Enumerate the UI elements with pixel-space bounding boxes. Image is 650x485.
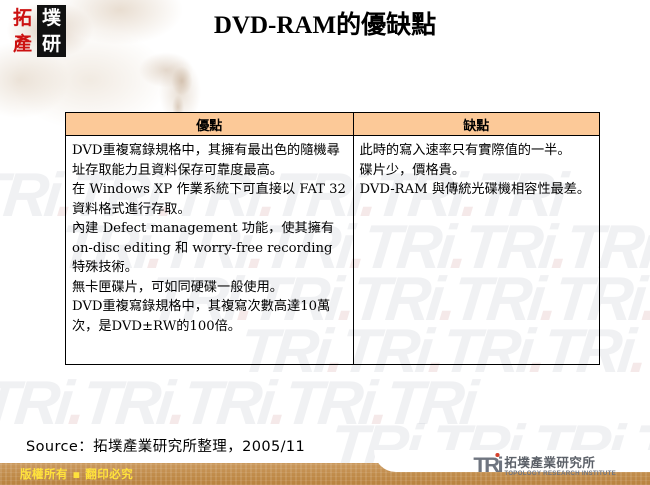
slide-canvas: TRi.TRi.TRi.TRi.TRi.TRi TRi.TRi.TRi.TRi.… — [0, 0, 650, 485]
comparison-table: 優點 缺點 DVD重複寫錄規格中，其擁有最出色的隨機尋址存取能力且資料保存可靠度… — [65, 112, 600, 365]
tri-logo-wordmark: 拓墣產業研究所 TOPOLOGY RESEARCH INSTITUTE — [504, 455, 616, 478]
cell-paragraph: DVD重複寫錄規格中，其擁有最出色的隨機尋址存取能力且資料保存可靠度最高。 — [72, 141, 347, 180]
table-cell-advantages: DVD重複寫錄規格中，其擁有最出色的隨機尋址存取能力且資料保存可靠度最高。在 W… — [66, 136, 354, 365]
advantages-text: DVD重複寫錄規格中，其擁有最出色的隨機尋址存取能力且資料保存可靠度最高。在 W… — [66, 136, 353, 342]
tri-logo-chinese-name: 拓墣產業研究所 — [504, 456, 616, 469]
tri-logo-english-name: TOPOLOGY RESEARCH INSTITUTE — [504, 470, 616, 478]
table-cell-disadvantages: 此時的寫入速率只有實際值的一半。碟片少，價格貴。DVD-RAM 與傳統光碟機相容… — [353, 136, 599, 365]
cell-paragraph: 此時的寫入速率只有實際值的一半。 — [360, 141, 593, 161]
tri-corporate-logo: TRi 拓墣產業研究所 TOPOLOGY RESEARCH INSTITUTE — [474, 455, 616, 481]
cell-paragraph: 內建 Defect management 功能，使其擁有 on-disc edi… — [72, 219, 347, 278]
table-row: DVD重複寫錄規格中，其擁有最出色的隨機尋址存取能力且資料保存可靠度最高。在 W… — [66, 136, 600, 365]
page-title: DVD-RAM的優缺點 — [0, 5, 650, 41]
source-line: Source：拓墣產業研究所整理，2005/11 — [26, 435, 305, 456]
tri-logo-mark-text: TRi — [473, 454, 501, 477]
copyright-notice: 版權所有 ▪ 翻印必究 — [20, 464, 133, 484]
cell-paragraph: 無卡匣碟片，可如同硬碟一般使用。 — [72, 278, 347, 298]
disadvantages-text: 此時的寫入速率只有實際值的一半。碟片少，價格貴。DVD-RAM 與傳統光碟機相容… — [354, 136, 599, 206]
cell-paragraph: DVD-RAM 與傳統光碟機相容性最差。 — [360, 180, 593, 200]
cell-paragraph: DVD重複寫錄規格中，其複寫次數高達10萬次，是DVD±RW的100倍。 — [72, 297, 347, 336]
table-header-row: 優點 缺點 — [66, 113, 600, 136]
cell-paragraph: 碟片少，價格貴。 — [360, 161, 593, 181]
tri-logo-mark: TRi — [473, 455, 501, 476]
table-header-disadvantages: 缺點 — [353, 113, 599, 136]
cell-paragraph: 在 Windows XP 作業系統下可直接以 FAT 32資料格式進行存取。 — [72, 180, 347, 219]
table-header-advantages: 優點 — [66, 113, 354, 136]
